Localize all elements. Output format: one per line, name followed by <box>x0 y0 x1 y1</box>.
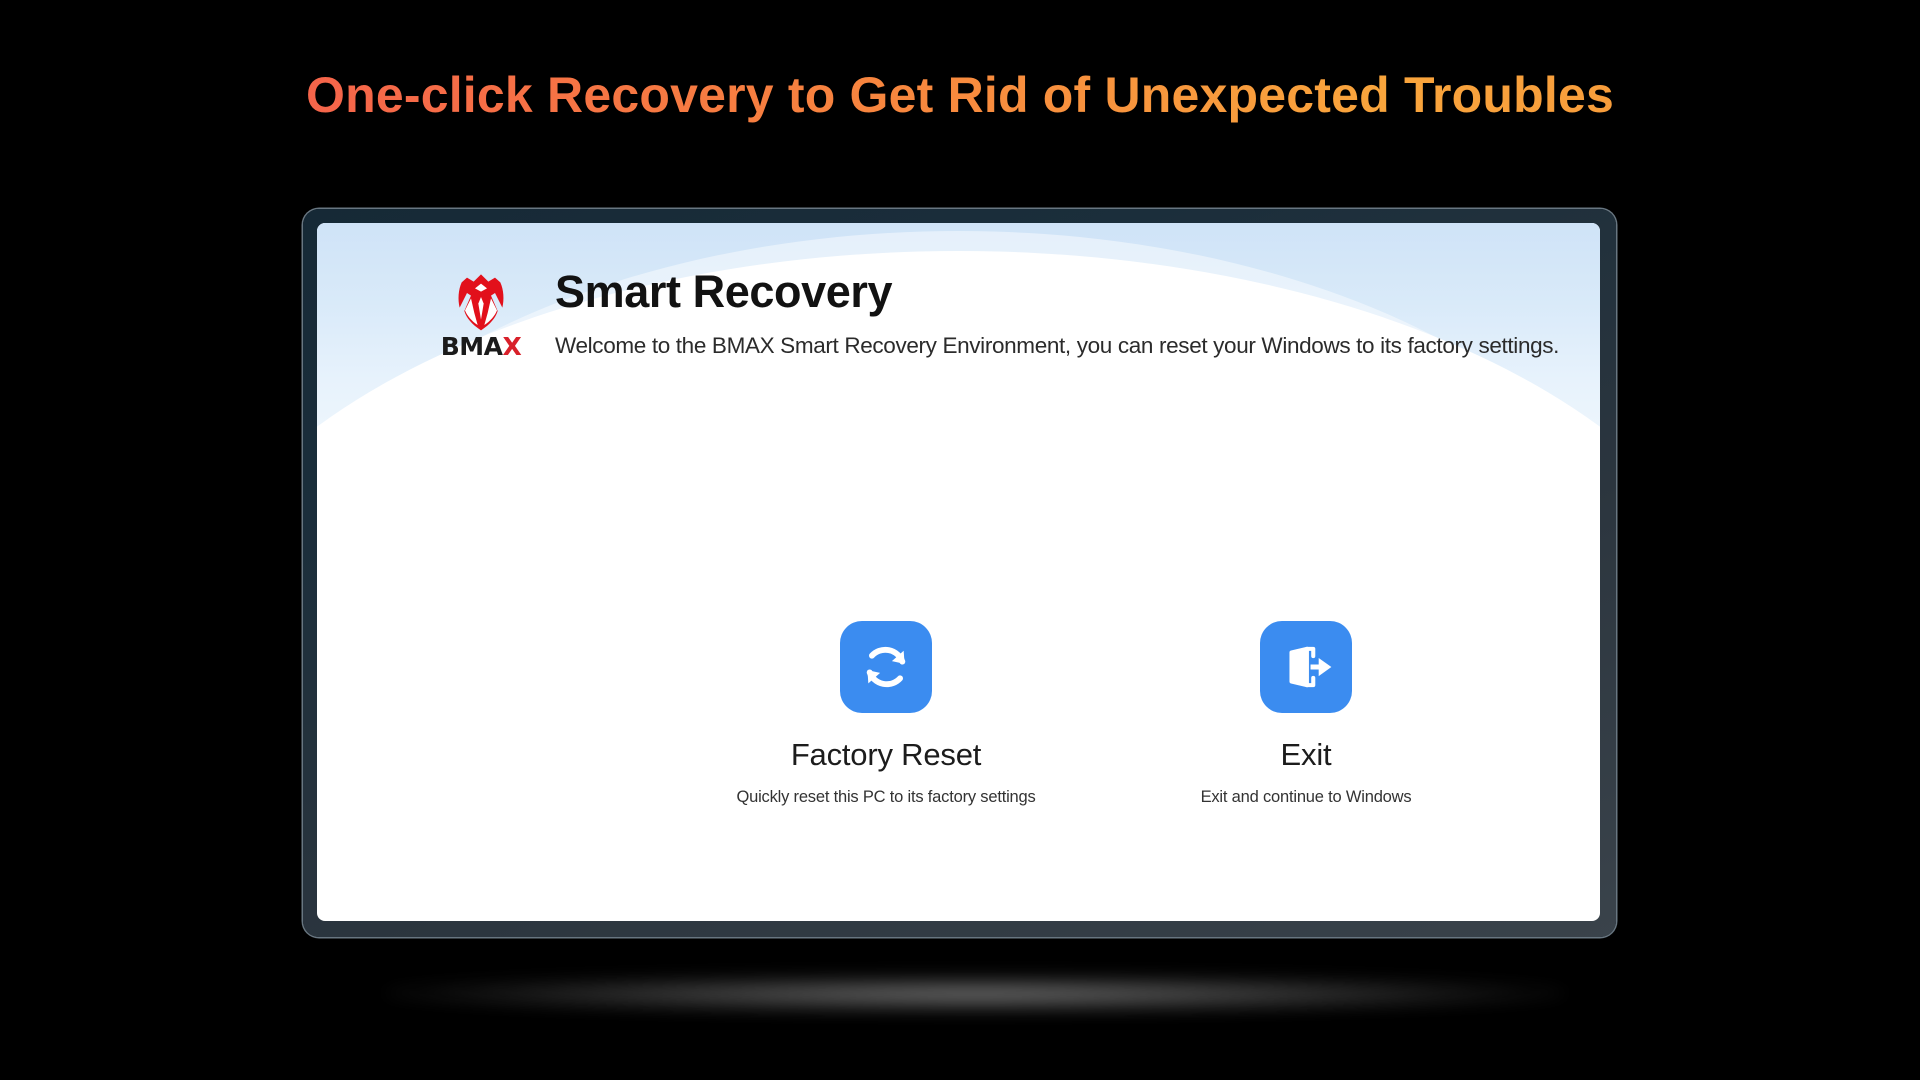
brand-wordmark-accent: X <box>503 332 522 361</box>
exit-glyph <box>1277 638 1335 696</box>
brand-wordmark: BMAX <box>441 334 522 359</box>
exit-door-arrow-icon[interactable] <box>1260 621 1352 713</box>
brand-wordmark-main: BMA <box>441 332 503 361</box>
refresh-glyph <box>857 638 915 696</box>
action-tile-factory-reset[interactable]: Factory Reset Quickly reset this PC to i… <box>741 621 1031 807</box>
action-tile-label: Factory Reset <box>791 739 981 770</box>
refresh-circular-arrows-icon[interactable] <box>840 621 932 713</box>
brand-row: BMAX Smart Recovery Welcome to the BMAX … <box>435 267 1559 359</box>
action-tile-label: Exit <box>1281 739 1332 770</box>
brand-text-block: Smart Recovery Welcome to the BMAX Smart… <box>555 267 1559 359</box>
recovery-app-screen: BMAX Smart Recovery Welcome to the BMAX … <box>317 223 1600 921</box>
action-tile-exit[interactable]: Exit Exit and continue to Windows <box>1161 621 1451 807</box>
app-subtitle: Welcome to the BMAX Smart Recovery Envir… <box>555 333 1559 359</box>
brand-logo: BMAX <box>435 269 527 359</box>
laptop-base-shadow <box>380 975 1570 1011</box>
action-tile-description: Exit and continue to Windows <box>1201 788 1412 807</box>
page-headline: One-click Recovery to Get Rid of Unexpec… <box>0 68 1920 123</box>
monitor-bezel: BMAX Smart Recovery Welcome to the BMAX … <box>303 209 1616 937</box>
app-title: Smart Recovery <box>555 269 1559 316</box>
bmax-fox-head-logo-icon <box>444 269 518 333</box>
action-tile-description: Quickly reset this PC to its factory set… <box>736 788 1035 807</box>
action-tiles: Factory Reset Quickly reset this PC to i… <box>317 621 1600 807</box>
page-root: One-click Recovery to Get Rid of Unexpec… <box>0 0 1920 1080</box>
